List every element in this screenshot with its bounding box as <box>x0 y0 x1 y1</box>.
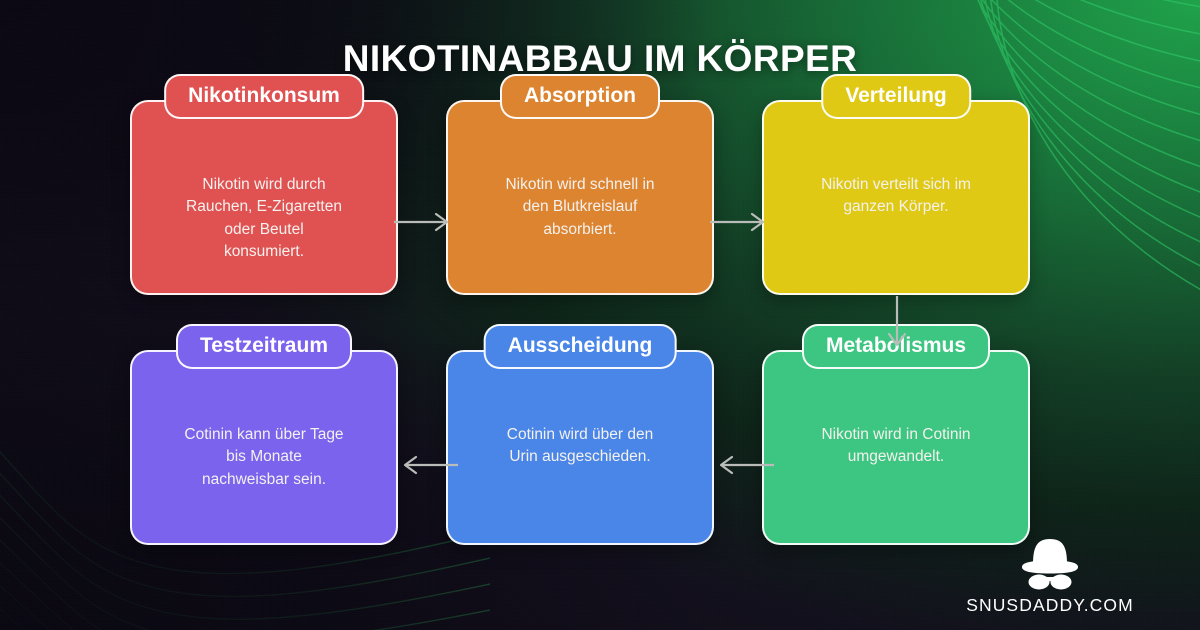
flow-card-ausscheidung[interactable]: Ausscheidung Cotinin wird über den Urin … <box>446 350 714 545</box>
flow-card-description: Cotinin kann über Tage bis Monate nachwe… <box>148 424 380 491</box>
arrow-right-icon-absorption-to-verteilung <box>710 207 772 237</box>
flow-card-description: Cotinin wird über den Urin ausgeschieden… <box>464 424 696 469</box>
flow-card-testzeitraum[interactable]: Testzeitraum Cotinin kann über Tage bis … <box>130 350 398 545</box>
arrow-right-icon-nikotinkonsum-to-absorption <box>394 207 456 237</box>
flow-card-title: Ausscheidung <box>484 324 677 369</box>
flow-card-absorption[interactable]: Absorption Nikotin wird schnell in den B… <box>446 100 714 295</box>
flow-card-description: Nikotin wird durch Rauchen, E-Zigaretten… <box>148 174 380 264</box>
flow-card-verteilung[interactable]: Verteilung Nikotin verteilt sich im ganz… <box>762 100 1030 295</box>
hat-sunglasses-icon <box>1004 534 1096 590</box>
flow-card-nikotinkonsum[interactable]: Nikotinkonsum Nikotin wird durch Rauchen… <box>130 100 398 295</box>
flow-card-title: Absorption <box>500 74 660 119</box>
brand-name: SNUSDADDY.COM <box>960 595 1140 616</box>
brand-watermark: SNUSDADDY.COM <box>960 534 1140 616</box>
flow-card-description: Nikotin verteilt sich im ganzen Körper. <box>780 174 1012 219</box>
arrow-left-icon-ausscheidung-to-testzeitraum <box>396 450 458 480</box>
arrow-down-icon-verteilung-to-metabolismus <box>880 296 914 354</box>
flow-row-bottom: Testzeitraum Cotinin kann über Tage bis … <box>130 350 1070 545</box>
arrow-left-icon-metabolismus-to-ausscheidung <box>712 450 774 480</box>
flow-card-description: Nikotin wird in Cotinin umgewandelt. <box>780 424 1012 469</box>
flow-card-metabolismus[interactable]: Metabolismus Nikotin wird in Cotinin umg… <box>762 350 1030 545</box>
flow-row-top: Nikotinkonsum Nikotin wird durch Rauchen… <box>130 100 1070 295</box>
flow-card-description: Nikotin wird schnell in den Blutkreislau… <box>464 174 696 241</box>
flow-card-title: Nikotinkonsum <box>164 74 364 119</box>
infographic-canvas: NIKOTINABBAU IM KÖRPER Nikotinkonsum Nik… <box>0 0 1200 630</box>
flow-card-title: Testzeitraum <box>176 324 352 369</box>
flow-card-title: Verteilung <box>821 74 971 119</box>
